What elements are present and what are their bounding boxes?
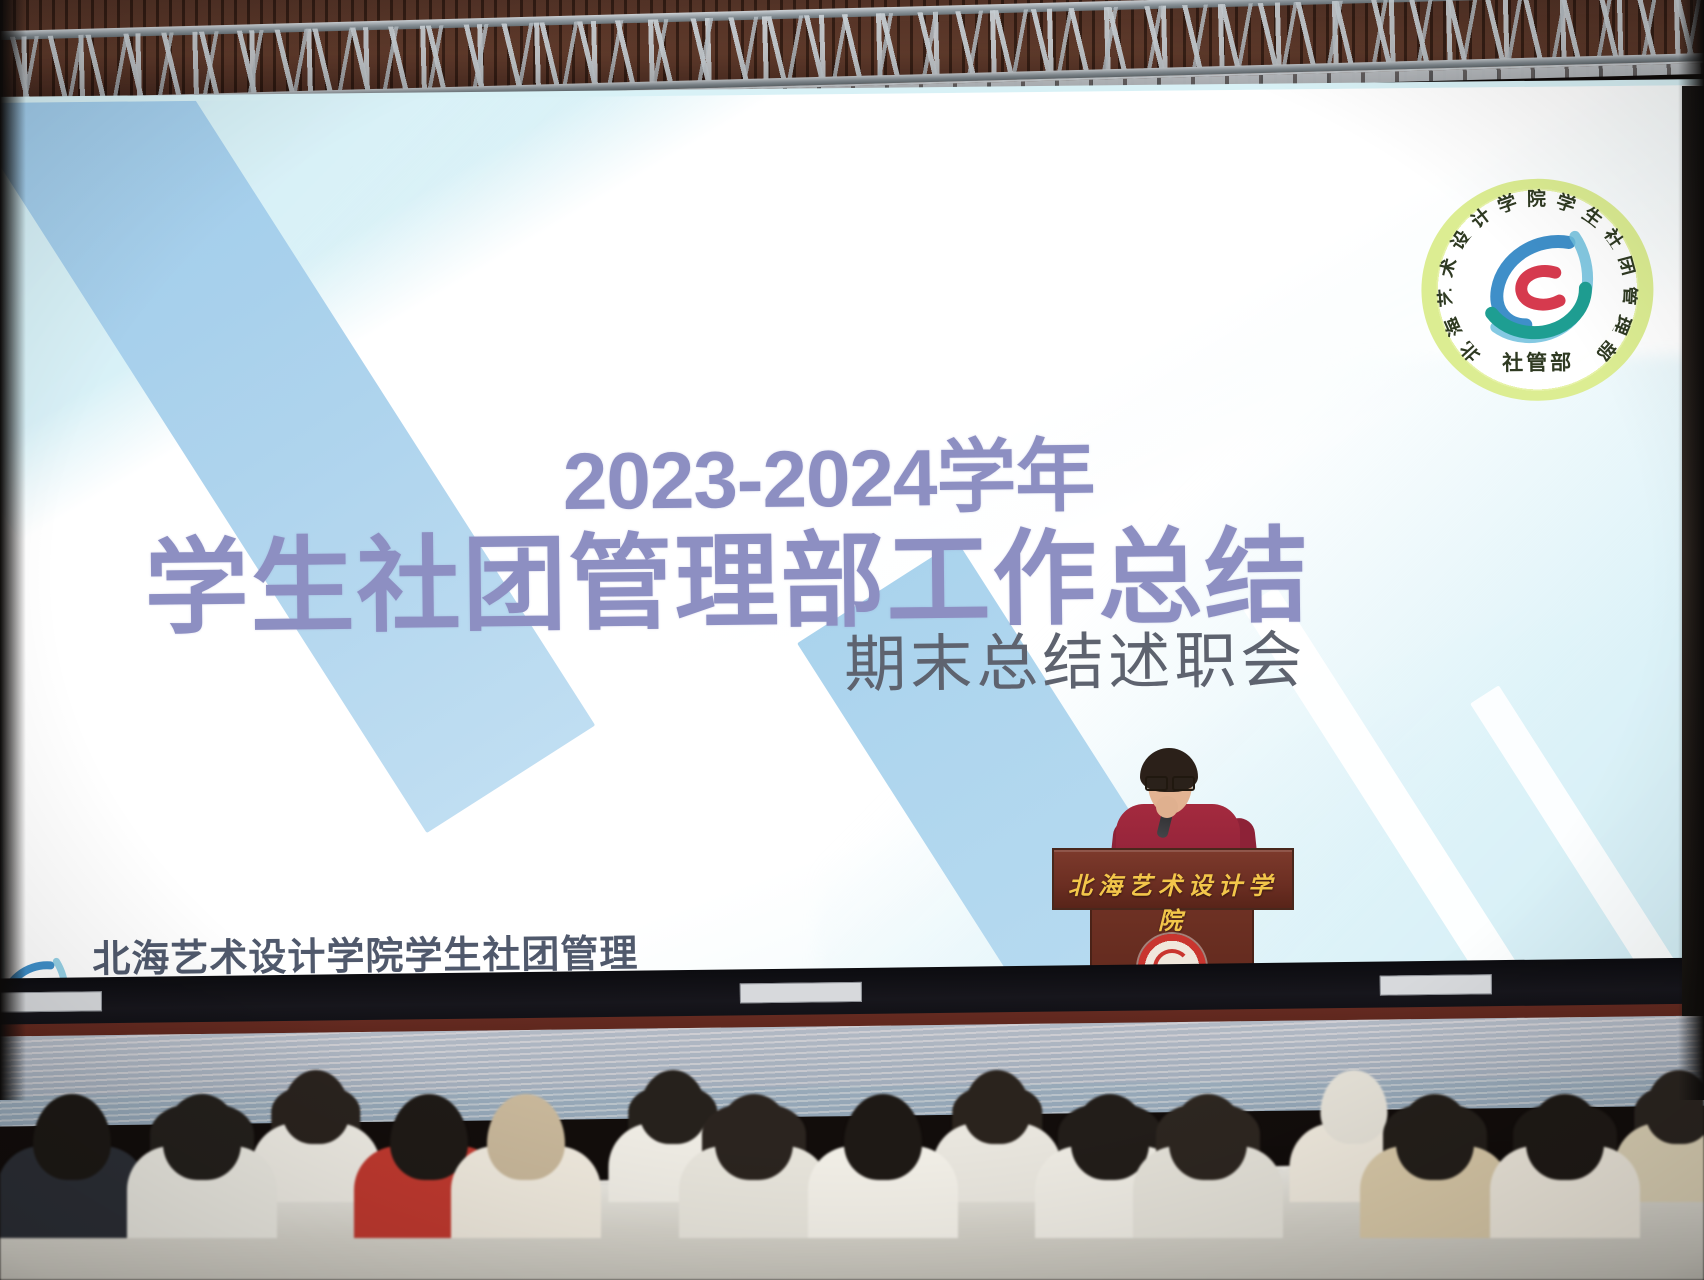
- audience-member: [264, 1056, 367, 1202]
- audience-member-head: [487, 1094, 565, 1180]
- audience-member-head: [390, 1094, 468, 1180]
- audience-rows: [0, 980, 1704, 1280]
- audience-member-head: [844, 1094, 922, 1180]
- frame-edge-right: [1678, 0, 1704, 1100]
- audience-member: [823, 1068, 943, 1238]
- audience-member: [466, 1068, 586, 1238]
- audience-member-head: [964, 1070, 1031, 1144]
- projection-screen: 2023-2024学年 学生社团管理部工作总结 期末总结述职会 北海艺术设计学院…: [0, 79, 1704, 997]
- slide-surface: 2023-2024学年 学生社团管理部工作总结 期末总结述职会 北海艺术设计学院…: [0, 85, 1704, 993]
- podium-nameplate: 北海艺术设计学院: [1052, 848, 1294, 910]
- club-emblem: 北海艺术设计学院学生社团管理部 社管部: [1420, 178, 1654, 402]
- auditorium-photo: 2023-2024学年 学生社团管理部工作总结 期末总结述职会 北海艺术设计学院…: [0, 0, 1704, 1280]
- presenter-hand: [1156, 796, 1178, 818]
- frame-edge-left: [0, 0, 26, 1100]
- audience-member: [1375, 1068, 1495, 1238]
- audience-member-head: [282, 1070, 349, 1144]
- emblem-center-label: 社管部: [1422, 346, 1654, 378]
- audience-member: [694, 1068, 814, 1238]
- glasses-icon: [1145, 776, 1195, 788]
- audience-member: [142, 1068, 262, 1238]
- audience-member-head: [33, 1094, 111, 1180]
- audience-member: [1148, 1068, 1268, 1238]
- audience-member: [12, 1068, 132, 1238]
- audience-member: [946, 1056, 1049, 1202]
- audience-member: [1505, 1068, 1625, 1238]
- podium-nameplate-text: 北海艺术设计学院: [1054, 866, 1292, 936]
